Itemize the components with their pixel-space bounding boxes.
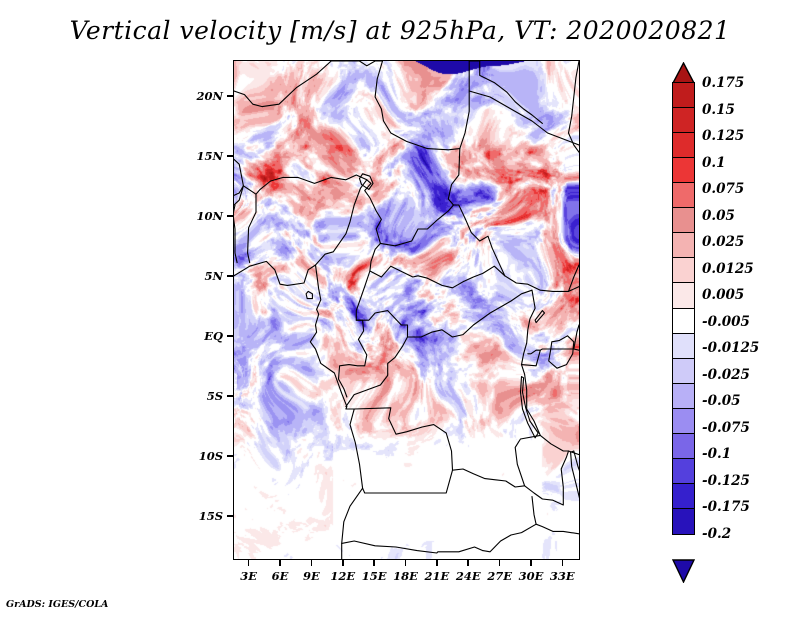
x-tick-mark <box>467 560 469 566</box>
y-tick-mark <box>227 95 233 97</box>
colorbar-band <box>672 408 695 435</box>
colorbar-tick-label: 0.15 <box>702 102 735 118</box>
country-border-line <box>521 377 539 438</box>
x-tick-mark <box>436 560 438 566</box>
country-border-line <box>528 350 541 354</box>
country-border-line <box>256 175 367 194</box>
x-axis-label: 3E <box>240 569 257 583</box>
colorbar-tick-label: -0.175 <box>702 499 750 515</box>
colorbar-tick-label: 0.175 <box>702 75 744 91</box>
country-border-line <box>532 497 536 525</box>
x-axis-label: 15E <box>362 569 387 583</box>
x-tick-mark <box>530 560 532 566</box>
country-border-line <box>248 194 256 262</box>
colorbar-band <box>672 483 695 510</box>
colorbar-tick-label: -0.1 <box>702 446 731 462</box>
country-border-line <box>316 180 367 265</box>
country-border-line <box>460 61 469 149</box>
country-border-line <box>549 336 574 368</box>
colorbar-tick-label: 0.0125 <box>702 261 754 277</box>
x-axis-label: 24E <box>456 569 481 583</box>
colorbar-tick-label: 0.125 <box>702 128 744 144</box>
country-border-line <box>363 469 525 493</box>
country-border-line <box>339 320 367 397</box>
x-tick-mark <box>405 560 407 566</box>
colorbar-band <box>672 257 695 284</box>
x-axis-label: 21E <box>424 569 449 583</box>
y-tick-mark <box>227 275 233 277</box>
country-border-line <box>448 149 460 205</box>
y-axis-label: 15N <box>191 149 223 163</box>
y-axis-label: 10S <box>191 449 223 463</box>
y-axis-label: 5N <box>191 269 223 283</box>
x-axis-label: 30E <box>519 569 544 583</box>
country-border-line <box>243 186 256 194</box>
y-tick-mark <box>227 395 233 397</box>
colorbar-tick-label: 0.1 <box>702 155 726 171</box>
colorbar-tick-label: -0.0125 <box>702 340 759 356</box>
x-axis-label: 27E <box>487 569 512 583</box>
country-border-line <box>375 61 460 150</box>
page-title: Vertical velocity [m/s] at 925hPa, VT: 2… <box>0 16 800 45</box>
colorbar-min-arrow <box>672 559 695 581</box>
x-axis-label: 6E <box>272 569 289 583</box>
colorbar-band <box>672 157 695 184</box>
map-plot-area <box>233 60 580 560</box>
colorbar-band <box>672 232 695 259</box>
x-axis-label: 18E <box>393 569 418 583</box>
colorbar-band <box>672 458 695 485</box>
x-tick-mark <box>342 560 344 566</box>
colorbar-band <box>672 132 695 159</box>
colorbar-bands <box>672 83 695 535</box>
country-border-line <box>525 451 569 505</box>
x-tick-mark <box>248 560 250 566</box>
colorbar: 0.1750.150.1250.10.0750.050.0250.01250.0… <box>672 62 792 562</box>
y-tick-mark <box>227 515 233 517</box>
country-border-line <box>540 435 568 451</box>
country-border-line <box>480 61 543 123</box>
colorbar-band <box>672 82 695 109</box>
colorbar-band <box>672 508 695 535</box>
footer-credit: GrADS: IGES/COLA <box>6 599 108 610</box>
y-tick-mark <box>227 455 233 457</box>
colorbar-tick-label: 0.075 <box>702 181 744 197</box>
x-axis-label: 9E <box>303 569 320 583</box>
country-border-line <box>365 180 382 271</box>
colorbar-tick-label: -0.2 <box>702 526 731 542</box>
x-tick-mark <box>562 560 564 566</box>
country-border-line <box>505 276 579 292</box>
colorbar-tick-label: -0.075 <box>702 420 750 436</box>
country-border-line <box>469 91 579 145</box>
country-border-line <box>380 205 504 276</box>
colorbar-band <box>672 182 695 209</box>
country-border-line <box>483 524 579 552</box>
colorbar-tick-label: 0.025 <box>702 234 744 250</box>
colorbar-band <box>672 282 695 309</box>
colorbar-band <box>672 358 695 385</box>
country-border-line <box>569 61 580 152</box>
x-tick-mark <box>279 560 281 566</box>
x-tick-mark <box>499 560 501 566</box>
colorbar-band <box>672 107 695 134</box>
y-axis-label: 5S <box>191 389 223 403</box>
country-border-line <box>574 325 579 349</box>
y-axis-label: 10N <box>191 209 223 223</box>
country-border-line <box>360 61 383 66</box>
colorbar-band <box>672 433 695 460</box>
country-border-line <box>370 266 505 288</box>
country-border-line <box>234 186 243 205</box>
country-borders-overlay <box>234 61 579 559</box>
x-axis-label: 33E <box>550 569 575 583</box>
country-border-line <box>262 61 331 107</box>
x-tick-mark <box>373 560 375 566</box>
colorbar-tick-label: -0.125 <box>702 473 750 489</box>
x-axis-label: 12E <box>330 569 355 583</box>
y-tick-mark <box>227 215 233 217</box>
y-axis-label: 20N <box>191 89 223 103</box>
colorbar-tick-label: 0.005 <box>702 287 744 303</box>
y-axis-label: 15S <box>191 509 223 523</box>
colorbar-tick-label: -0.005 <box>702 314 750 330</box>
country-border-line <box>234 205 237 263</box>
country-border-line <box>342 541 483 553</box>
country-border-line <box>306 291 312 298</box>
country-border-line <box>408 290 533 337</box>
y-tick-mark <box>227 335 233 337</box>
colorbar-tick-label: -0.025 <box>702 367 750 383</box>
country-border-line <box>234 261 363 559</box>
colorbar-band <box>672 333 695 360</box>
colorbar-band <box>672 308 695 335</box>
y-tick-mark <box>227 155 233 157</box>
y-axis-label: EQ <box>191 329 223 343</box>
colorbar-band <box>672 383 695 410</box>
country-border-line <box>346 271 408 407</box>
colorbar-band <box>672 207 695 234</box>
country-border-line <box>535 311 544 323</box>
country-border-line <box>515 290 540 486</box>
country-border-line <box>354 408 452 470</box>
x-tick-mark <box>311 560 313 566</box>
colorbar-tick-label: -0.05 <box>702 393 740 409</box>
country-border-line <box>571 451 579 500</box>
country-border-line <box>234 91 262 107</box>
colorbar-tick-label: 0.05 <box>702 208 735 224</box>
